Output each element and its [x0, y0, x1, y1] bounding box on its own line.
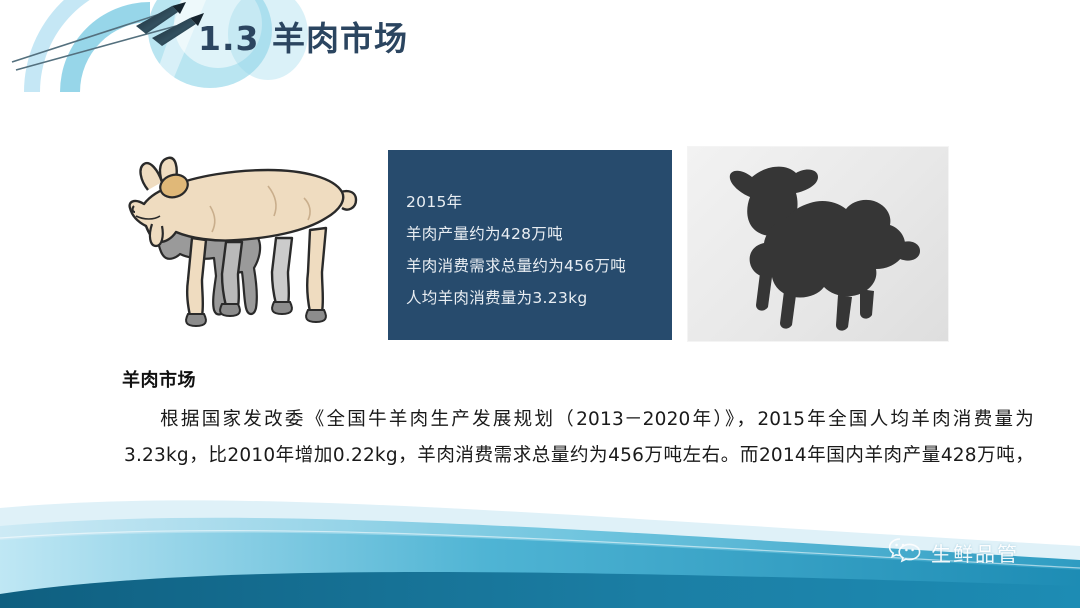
statistics-box: 2015年 羊肉产量约为428万吨 羊肉消费需求总量约为456万吨 人均羊肉消费… [388, 150, 672, 340]
footer-watermark: 生鲜品管 [888, 536, 1019, 568]
stat-line-production: 羊肉产量约为428万吨 [406, 218, 672, 250]
body-paragraph: 根据国家发改委《全国牛羊肉生产发展规划（2013－2020年）》，2015年全国… [124, 409, 1034, 502]
page-title: 1.3 羊肉市场 [198, 18, 408, 59]
wechat-icon [888, 536, 922, 568]
stat-line-demand: 羊肉消费需求总量约为456万吨 [406, 250, 672, 282]
sheep-icon [688, 147, 948, 341]
slide-canvas: 1.3 羊肉市场 [0, 0, 1080, 608]
arrows-icon [12, 2, 204, 70]
stat-line-year: 2015年 [406, 186, 672, 218]
wechat-glyph [888, 536, 922, 564]
body-paragraph-wrapper: 根据国家发改委《全国牛羊肉生产发展规划（2013－2020年）》，2015年全国… [124, 402, 1034, 510]
goat-illustration [118, 146, 380, 342]
stat-line-percapita: 人均羊肉消费量为3.23kg [406, 282, 672, 314]
section-heading: 羊肉市场 [122, 366, 196, 392]
goat-image [118, 146, 380, 342]
sheep-shape [730, 167, 920, 331]
sheep-silhouette-image [687, 146, 949, 342]
watermark-text: 生鲜品管 [931, 538, 1019, 567]
